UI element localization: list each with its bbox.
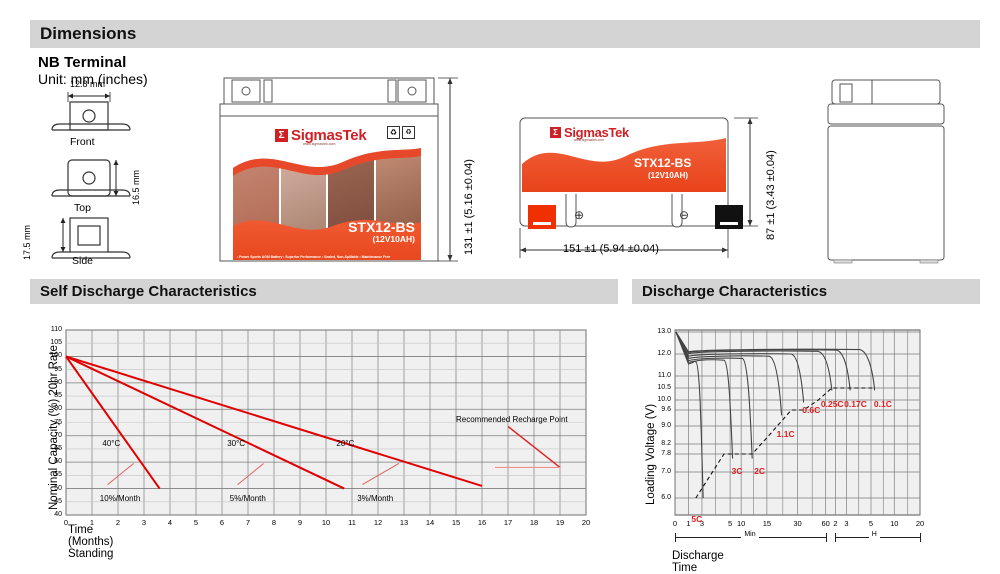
self-discharge-ytick: 45 bbox=[40, 498, 62, 505]
discharge-rate-label: 1.1C bbox=[777, 429, 795, 439]
battery-model-front: STX12-BS bbox=[348, 219, 415, 235]
discharge-rate-label: 2C bbox=[754, 466, 765, 476]
positive-pad-stripe bbox=[533, 222, 551, 226]
discharge-rate-label: 5C bbox=[691, 514, 702, 524]
terminal-depth-label: 16.5 mm bbox=[131, 170, 141, 205]
battery-tagline: • Power Sports AGM Battery • Superior Pe… bbox=[237, 255, 390, 259]
minutes-range-label: Min bbox=[741, 531, 758, 538]
discharge-ytick: 9.0 bbox=[645, 422, 671, 429]
terminal-view-front-label: Front bbox=[70, 136, 95, 148]
self-discharge-xtick: 5 bbox=[187, 518, 205, 527]
section-title-dimensions: Dimensions bbox=[40, 24, 136, 44]
self-discharge-ytick: 40 bbox=[40, 511, 62, 518]
nb-terminal-title: NB Terminal bbox=[38, 54, 126, 71]
hours-range-label: H bbox=[869, 531, 880, 538]
self-discharge-annotation: 20°C bbox=[336, 439, 354, 448]
self-discharge-xtick: 16 bbox=[473, 518, 491, 527]
top-length-dimension: 151 ±1 (5.94 ±0.04) bbox=[563, 243, 659, 255]
hours-range-cap bbox=[920, 533, 921, 542]
discharge-ytick: 11.0 bbox=[645, 372, 671, 379]
self-discharge-annotation: 40°C bbox=[102, 439, 120, 448]
self-discharge-xtick: 9 bbox=[291, 518, 309, 527]
self-discharge-ytick: 110 bbox=[40, 326, 62, 333]
self-discharge-xtick: 3 bbox=[135, 518, 153, 527]
discharge-xlabel: Discharge Time bbox=[672, 550, 724, 574]
self-discharge-ytick: 100 bbox=[40, 352, 62, 359]
negative-polarity-icon: ⊖ bbox=[679, 208, 689, 222]
self-discharge-annotation: 10%/Month bbox=[100, 494, 140, 503]
terminal-height-label: 17.5 mm bbox=[22, 225, 32, 260]
discharge-rate-label: 0.17C bbox=[844, 399, 867, 409]
self-discharge-ytick: 60 bbox=[40, 458, 62, 465]
discharge-ytick: 7.8 bbox=[645, 450, 671, 457]
discharge-ytick: 8.2 bbox=[645, 440, 671, 447]
self-discharge-ytick: 75 bbox=[40, 419, 62, 426]
sigma-mark-icon-top: Σ bbox=[550, 127, 561, 138]
no-disposal-icon: ♻ bbox=[402, 126, 415, 139]
negative-terminal-pad bbox=[715, 205, 743, 229]
battery-rating-top: (12V10AH) bbox=[648, 171, 688, 180]
negative-pad-stripe bbox=[720, 222, 738, 226]
self-discharge-xtick: 17 bbox=[499, 518, 517, 527]
minutes-range-cap bbox=[826, 533, 827, 542]
section-header-dimensions: Dimensions bbox=[30, 20, 980, 48]
discharge-xtick: 15 bbox=[759, 519, 775, 528]
hours-range-cap bbox=[835, 533, 836, 542]
self-discharge-annotation: 3%/Month bbox=[357, 494, 393, 503]
battery-model-top: STX12-BS bbox=[634, 156, 691, 170]
self-discharge-annotation: 30°C bbox=[227, 439, 245, 448]
self-discharge-ytick: 80 bbox=[40, 405, 62, 412]
battery-rating-front: (12V10AH) bbox=[372, 234, 415, 244]
discharge-ytick: 12.0 bbox=[645, 350, 671, 357]
front-height-dimension: 131 ±1 (5.16 ±0.04) bbox=[463, 159, 475, 255]
self-discharge-xtick: 10 bbox=[317, 518, 335, 527]
discharge-xtick: 20 bbox=[912, 519, 928, 528]
self-discharge-xtick: 0 bbox=[57, 518, 75, 527]
self-discharge-ytick: 55 bbox=[40, 471, 62, 478]
discharge-xtick: 3 bbox=[839, 519, 855, 528]
positive-terminal-pad bbox=[528, 205, 556, 229]
top-height-dimension: 87 ±1 (3.43 ±0.04) bbox=[765, 150, 777, 240]
terminal-view-side-label: Side bbox=[72, 255, 93, 267]
self-discharge-xtick: 2 bbox=[109, 518, 127, 527]
self-discharge-annotation: 5%/Month bbox=[230, 494, 266, 503]
positive-polarity-icon: ⊕ bbox=[574, 208, 584, 222]
self-discharge-xtick: 11 bbox=[343, 518, 361, 527]
self-discharge-xtick: 6 bbox=[213, 518, 231, 527]
discharge-xtick: 5 bbox=[863, 519, 879, 528]
self-discharge-xtick: 7 bbox=[239, 518, 257, 527]
terminal-view-top-label: Top bbox=[74, 202, 91, 214]
discharge-ytick: 13.0 bbox=[645, 328, 671, 335]
discharge-ytick: 7.0 bbox=[645, 468, 671, 475]
discharge-rate-label: 0.6C bbox=[802, 405, 820, 415]
discharge-xtick: 10 bbox=[733, 519, 749, 528]
recycle-icon: ♻ bbox=[387, 126, 400, 139]
discharge-xtick: 10 bbox=[886, 519, 902, 528]
self-discharge-xtick: 1 bbox=[83, 518, 101, 527]
sigma-mark-icon: Σ bbox=[275, 129, 288, 142]
self-discharge-xtick: 8 bbox=[265, 518, 283, 527]
self-discharge-xtick: 19 bbox=[551, 518, 569, 527]
self-discharge-annotation: Recommended Recharge Point bbox=[456, 415, 568, 424]
self-discharge-ytick: 70 bbox=[40, 432, 62, 439]
discharge-ytick: 9.6 bbox=[645, 406, 671, 413]
self-discharge-xtick: 15 bbox=[447, 518, 465, 527]
self-discharge-xtick: 14 bbox=[421, 518, 439, 527]
discharge-xtick: 30 bbox=[790, 519, 806, 528]
discharge-rate-label: 0.25C bbox=[821, 399, 844, 409]
minutes-range-cap bbox=[675, 533, 676, 542]
battery-top-label: Σ SigmasTek www.sigmastek.com STX12-BS (… bbox=[522, 120, 726, 192]
self-discharge-ytick: 90 bbox=[40, 379, 62, 386]
discharge-ytick: 10.5 bbox=[645, 384, 671, 391]
terminal-width-label: 12.8 mm bbox=[70, 79, 105, 89]
brand-website-top: www.sigmastek.com bbox=[574, 138, 604, 142]
self-discharge-ytick: 105 bbox=[40, 339, 62, 346]
self-discharge-ytick: 85 bbox=[40, 392, 62, 399]
self-discharge-xtick: 13 bbox=[395, 518, 413, 527]
discharge-ytick: 10.0 bbox=[645, 396, 671, 403]
self-discharge-ytick: 65 bbox=[40, 445, 62, 452]
self-discharge-xtick: 18 bbox=[525, 518, 543, 527]
discharge-rate-label: 0.1C bbox=[874, 399, 892, 409]
discharge-rate-label: 3C bbox=[732, 466, 743, 476]
battery-front-label: Σ SigmasTek www.sigmastek.com ♻ ♻ STX12-… bbox=[233, 122, 421, 260]
self-discharge-ytick: 95 bbox=[40, 366, 62, 373]
self-discharge-ytick: 50 bbox=[40, 485, 62, 492]
self-discharge-xtick: 12 bbox=[369, 518, 387, 527]
self-discharge-xlabel: Time (Months) Standing bbox=[68, 524, 113, 560]
discharge-ytick: 6.0 bbox=[645, 494, 671, 501]
self-discharge-xtick: 4 bbox=[161, 518, 179, 527]
brand-website: www.sigmastek.com bbox=[303, 142, 336, 146]
self-discharge-xtick: 20 bbox=[577, 518, 595, 527]
